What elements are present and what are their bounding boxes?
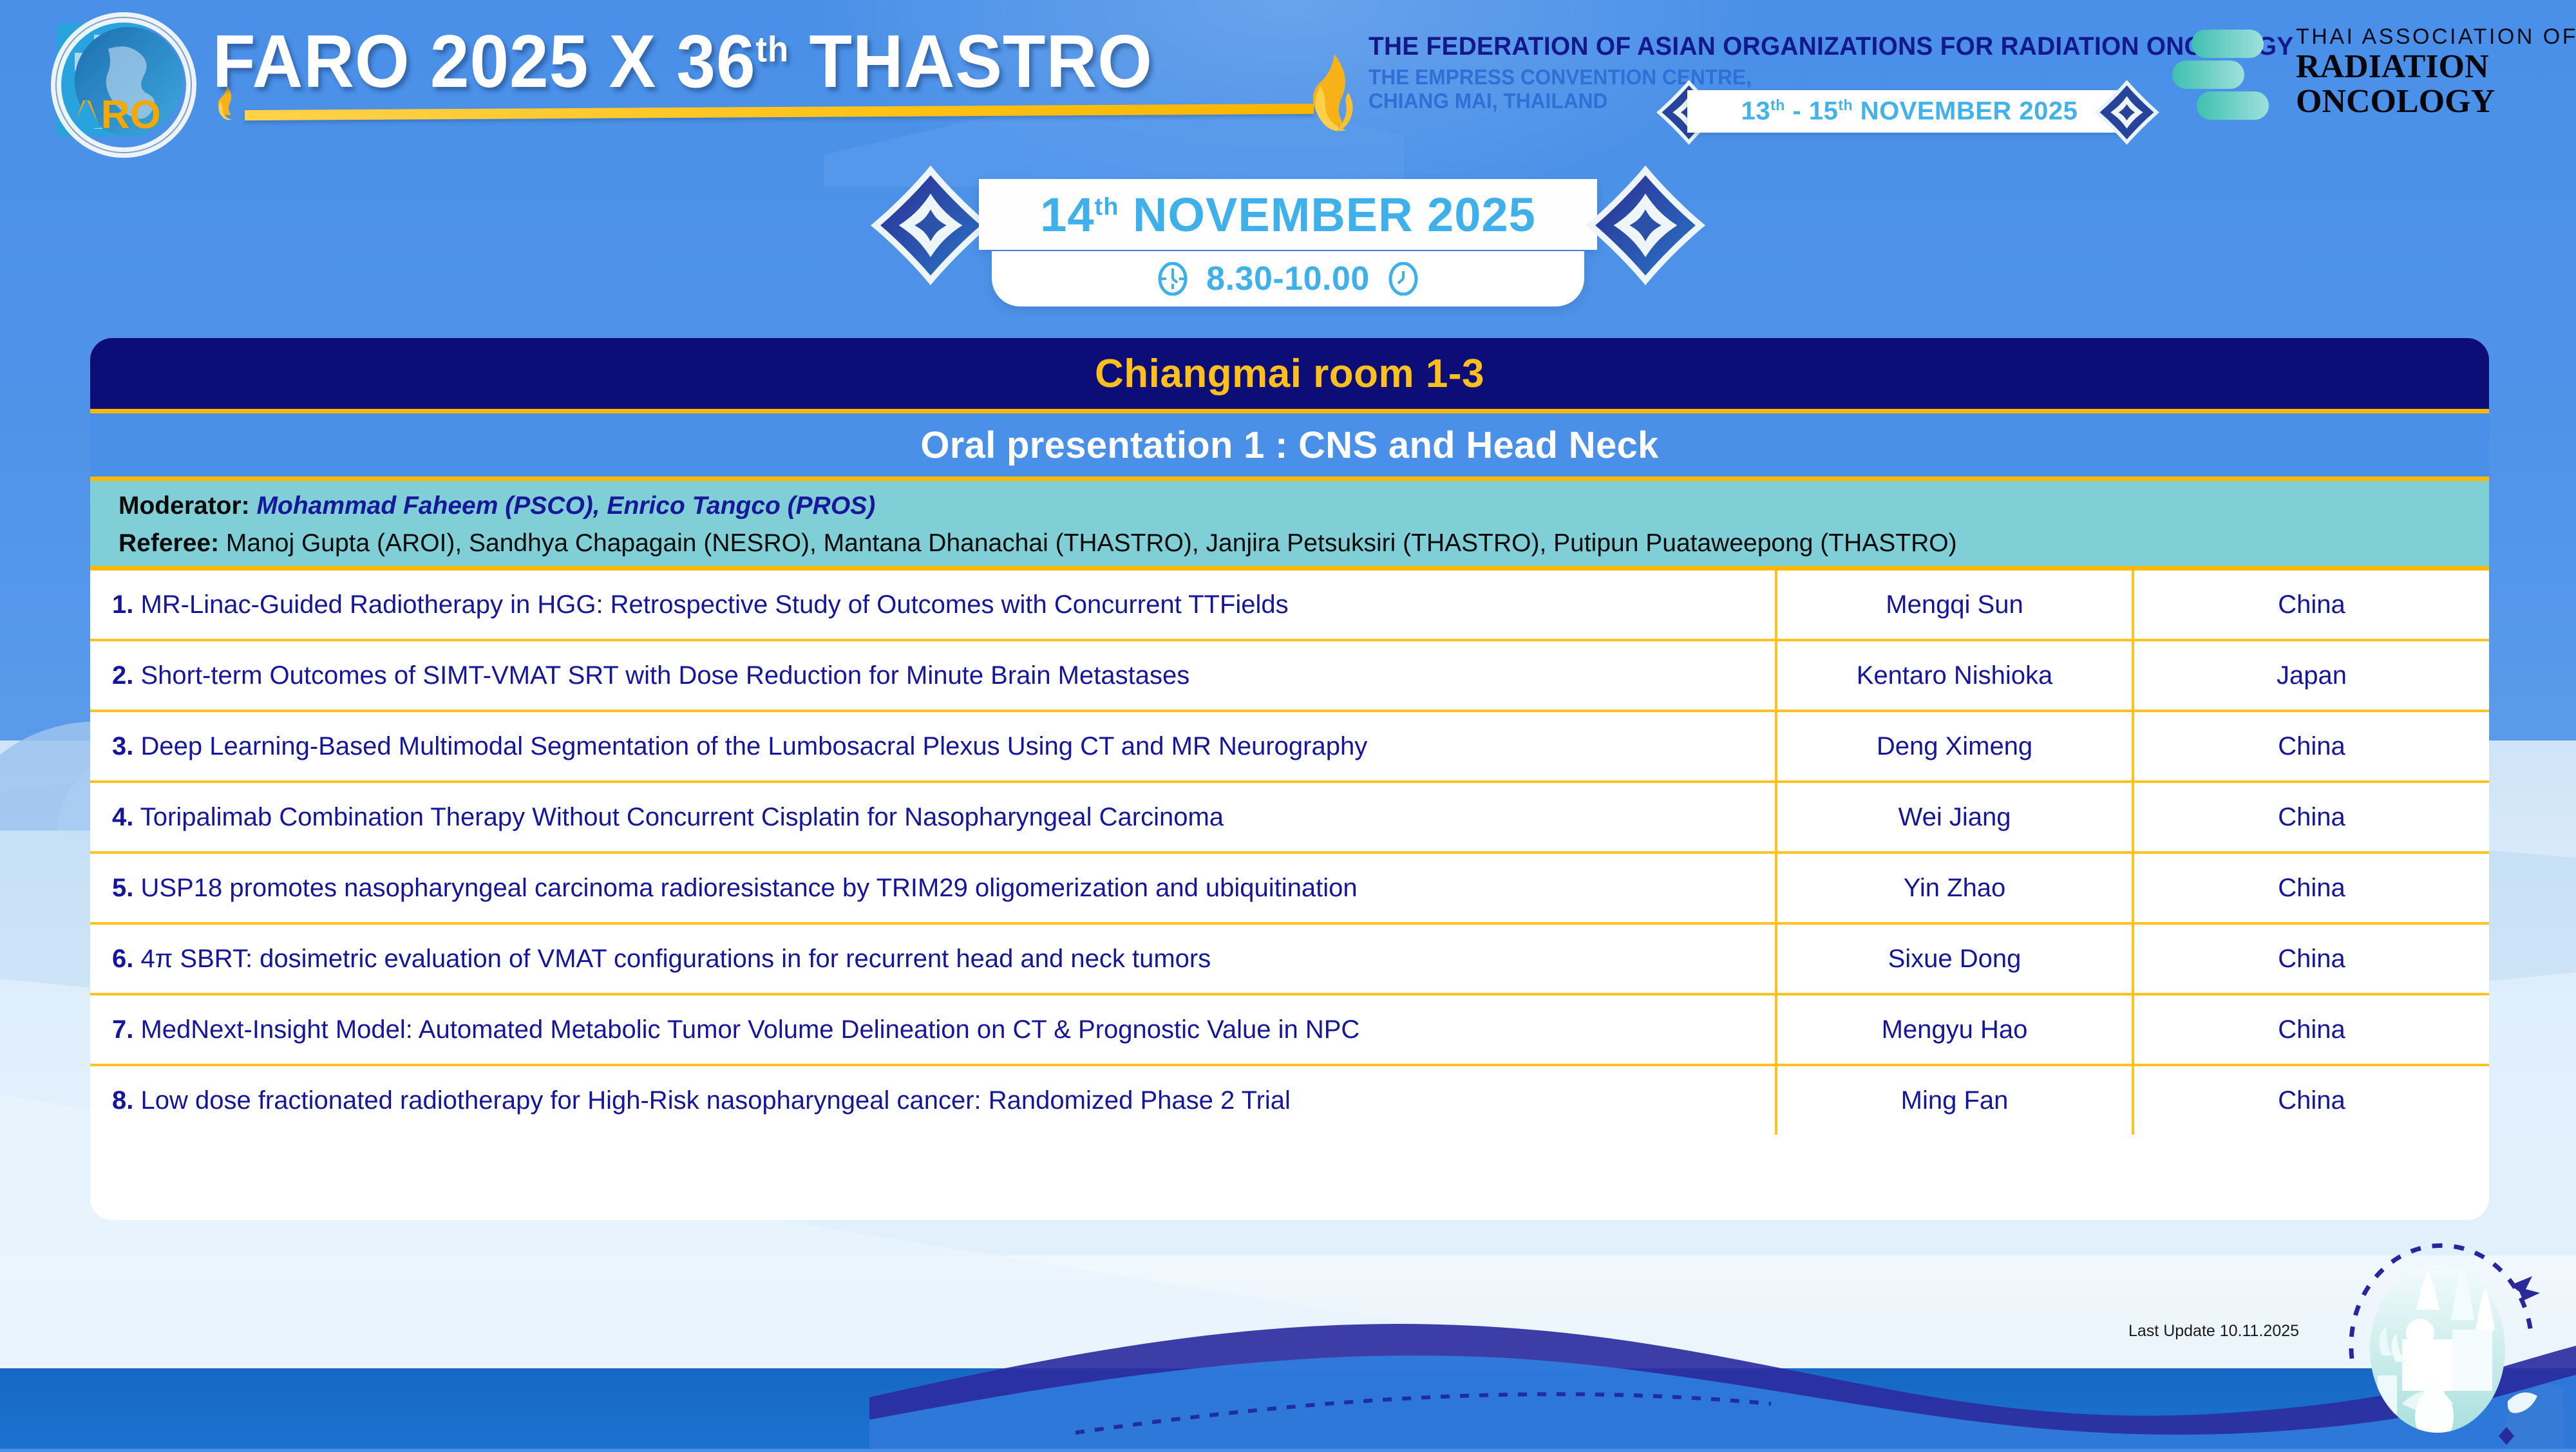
moderator-referee-block: Moderator: Mohammad Faheem (PSCO), Enric…	[90, 481, 2489, 566]
presentation-title: 3. Deep Learning-Based Multimodal Segmen…	[112, 732, 1367, 761]
room-divider	[90, 409, 2489, 413]
table-row: 2. Short-term Outcomes of SIMT-VMAT SRT …	[90, 641, 2489, 712]
dates-start: 13	[1741, 97, 1771, 126]
title-tail: THASTRO	[789, 19, 1153, 103]
presenter-cell: Mengyu Hao	[1777, 995, 2134, 1064]
presenter-cell: Yin Zhao	[1777, 854, 2134, 922]
country-cell: China	[2134, 570, 2489, 639]
dates-start-ordinal: th	[1770, 97, 1785, 113]
thastro-wordmark: THAI ASSOCIATION OF RADIATION ONCOLOGY	[2296, 24, 2576, 119]
presentation-number: 2.	[112, 661, 133, 690]
country-cell: China	[2134, 1066, 2489, 1135]
title-ordinal: th	[756, 28, 790, 69]
presentation-title: 7. MedNext-Insight Model: Automated Meta…	[112, 1015, 1359, 1044]
presenter-name: Sixue Dong	[1888, 945, 2022, 974]
table-row: 6. 4π SBRT: dosimetric evaluation of VMA…	[90, 925, 2489, 995]
presentation-number: 4.	[112, 803, 133, 831]
title-main: FARO 2025 X 36	[213, 19, 756, 103]
session-time-text: 8.30-10.00	[1206, 259, 1370, 298]
presenter-name: Mengqi Sun	[1886, 590, 2023, 619]
table-row: 3. Deep Learning-Based Multimodal Segmen…	[90, 712, 2489, 783]
presenter-name: Yin Zhao	[1904, 874, 2006, 903]
presentation-table: 1. MR-Linac-Guided Radiotherapy in HGG: …	[90, 570, 2489, 1220]
thastro-line-1: THAI ASSOCIATION OF	[2296, 24, 2576, 50]
presentation-title-cell: 7. MedNext-Insight Model: Automated Meta…	[90, 995, 1777, 1064]
moderator-divider	[90, 566, 2489, 570]
dates-month-year: NOVEMBER 2025	[1853, 97, 2078, 126]
presentation-title-cell: 4. Toripalimab Combination Therapy Witho…	[90, 783, 1777, 851]
country-name: Japan	[2277, 661, 2347, 690]
session-date-text: 14th NOVEMBER 2025	[1040, 187, 1536, 242]
presenter-cell: Ming Fan	[1777, 1066, 2134, 1135]
presenter-cell: Kentaro Nishioka	[1777, 641, 2134, 710]
country-cell: China	[2134, 854, 2489, 922]
country-name: China	[2278, 803, 2345, 832]
session-date-badge: 14th NOVEMBER 2025	[979, 179, 1597, 250]
country-name: China	[2278, 1015, 2345, 1044]
presenter-cell: Mengqi Sun	[1777, 570, 2134, 639]
presentation-title-text: Short-term Outcomes of SIMT-VMAT SRT wit…	[133, 661, 1189, 690]
presentation-title-text: Deep Learning-Based Multimodal Segmentat…	[133, 732, 1367, 760]
aro-logo-icon: ARO	[39, 9, 200, 160]
presentation-title: 5. USP18 promotes nasopharyngeal carcino…	[112, 874, 1358, 903]
presenter-cell: Wei Jiang	[1777, 783, 2134, 851]
country-name: China	[2278, 874, 2345, 903]
presentation-title-text: Toripalimab Combination Therapy Without …	[133, 803, 1224, 831]
presentation-title-text: MR-Linac-Guided Radiotherapy in HGG: Ret…	[133, 590, 1288, 619]
presenter-name: Kentaro Nishioka	[1857, 661, 2053, 690]
country-cell: China	[2134, 995, 2489, 1064]
presentation-title-cell: 2. Short-term Outcomes of SIMT-VMAT SRT …	[90, 641, 1777, 710]
presentation-number: 1.	[112, 590, 133, 619]
presentation-number: 6.	[112, 945, 133, 973]
session-date-ordinal: th	[1095, 193, 1119, 220]
moderator-names: Mohammad Faheem (PSCO), Enrico Tangco (P…	[250, 492, 876, 520]
table-row: 1. MR-Linac-Guided Radiotherapy in HGG: …	[90, 570, 2489, 641]
table-row: 4. Toripalimab Combination Therapy Witho…	[90, 783, 2489, 854]
diamond-ornament-right-small	[2093, 79, 2161, 146]
presentation-title-cell: 3. Deep Learning-Based Multimodal Segmen…	[90, 712, 1777, 780]
thastro-line-2: RADIATION	[2296, 50, 2576, 84]
country-name: China	[2278, 732, 2345, 761]
presenter-cell: Sixue Dong	[1777, 925, 2134, 993]
presentation-number: 5.	[112, 874, 133, 902]
presenter-cell: Deng Ximeng	[1777, 712, 2134, 780]
presentation-title-cell: 8. Low dose fractionated radiotherapy fo…	[90, 1066, 1777, 1135]
session-divider	[90, 476, 2489, 481]
referee-names: Manoj Gupta (AROI), Sandhya Chapagain (N…	[219, 529, 1957, 557]
event-dates-badge: 13th - 15th NOVEMBER 2025	[1687, 90, 2132, 133]
presentation-title-cell: 1. MR-Linac-Guided Radiotherapy in HGG: …	[90, 570, 1777, 639]
moderator-line: Moderator: Mohammad Faheem (PSCO), Enric…	[118, 487, 2489, 525]
venue-line-1: THE EMPRESS CONVENTION CENTRE,	[1368, 66, 2098, 90]
presentation-number: 3.	[112, 732, 133, 760]
session-title: Oral presentation 1 : CNS and Head Neck	[920, 424, 1658, 467]
dates-separator: - 15	[1785, 97, 1839, 126]
moderator-label: Moderator:	[118, 492, 250, 520]
presentation-title-cell: 6. 4π SBRT: dosimetric evaluation of VMA…	[90, 925, 1777, 993]
presenter-name: Deng Ximeng	[1877, 732, 2032, 761]
session-time-badge: 8.30-10.00	[992, 251, 1584, 306]
federation-name: THE FEDERATION OF ASIAN ORGANIZATIONS FO…	[1368, 32, 2106, 61]
presentation-title: 6. 4π SBRT: dosimetric evaluation of VMA…	[112, 945, 1211, 974]
presentation-title-text: Low dose fractionated radiotherapy for H…	[133, 1086, 1291, 1115]
dates-end-ordinal: th	[1838, 97, 1853, 113]
table-row: 8. Low dose fractionated radiotherapy fo…	[90, 1066, 2489, 1135]
presenter-name: Wei Jiang	[1899, 803, 2011, 832]
presentation-number: 8.	[112, 1086, 133, 1115]
last-update-text: Last Update 10.11.2025	[2128, 1322, 2299, 1341]
country-cell: Japan	[2134, 641, 2489, 710]
country-cell: China	[2134, 925, 2489, 993]
thastro-logo-icon	[2161, 23, 2270, 126]
room-name: Chiangmai room 1-3	[1095, 351, 1484, 397]
page-header: ARO FARO 2025 X 36th THASTRO THE FEDERAT…	[0, 0, 2576, 161]
country-name: China	[2278, 1086, 2345, 1115]
country-cell: China	[2134, 783, 2489, 851]
referee-label: Referee:	[118, 529, 219, 557]
schedule-card: Chiangmai room 1-3 Oral presentation 1 :…	[90, 338, 2489, 1220]
slide-root: ARO FARO 2025 X 36th THASTRO THE FEDERAT…	[0, 0, 2576, 1449]
table-row: 7. MedNext-Insight Model: Automated Meta…	[90, 995, 2489, 1066]
diamond-ornament-left-large	[869, 164, 992, 287]
thailand-landmark-illustration	[2306, 1243, 2563, 1449]
session-header: Oral presentation 1 : CNS and Head Neck	[90, 413, 2489, 476]
referee-line: Referee: Manoj Gupta (AROI), Sandhya Cha…	[118, 525, 2489, 562]
session-date-number: 14	[1040, 188, 1094, 241]
presentation-number: 7.	[112, 1015, 133, 1044]
country-name: China	[2278, 945, 2345, 974]
clock-icon-left	[1156, 262, 1189, 296]
thastro-line-3: ONCOLOGY	[2296, 84, 2576, 119]
presentation-title: 4. Toripalimab Combination Therapy Witho…	[112, 803, 1224, 832]
clock-icon-right	[1387, 262, 1420, 296]
session-date-month: NOVEMBER 2025	[1119, 188, 1535, 241]
presentation-title-cell: 5. USP18 promotes nasopharyngeal carcino…	[90, 854, 1777, 922]
country-name: China	[2278, 590, 2345, 619]
presentation-title-text: 4π SBRT: dosimetric evaluation of VMAT c…	[133, 945, 1211, 973]
event-dates-text: 13th - 15th NOVEMBER 2025	[1741, 97, 2078, 126]
page-title: FARO 2025 X 36th THASTRO	[213, 18, 1242, 108]
country-cell: China	[2134, 712, 2489, 780]
presentation-title: 8. Low dose fractionated radiotherapy fo…	[112, 1086, 1291, 1115]
presentation-title: 2. Short-term Outcomes of SIMT-VMAT SRT …	[112, 661, 1189, 690]
room-header: Chiangmai room 1-3	[90, 338, 2489, 409]
torch-flame-large-icon	[1294, 50, 1372, 147]
presenter-name: Ming Fan	[1901, 1086, 2009, 1115]
presentation-title-text: MedNext-Insight Model: Automated Metabol…	[133, 1015, 1359, 1044]
table-row: 5. USP18 promotes nasopharyngeal carcino…	[90, 854, 2489, 925]
presentation-title: 1. MR-Linac-Guided Radiotherapy in HGG: …	[112, 590, 1289, 619]
presentation-title-text: USP18 promotes nasopharyngeal carcinoma …	[133, 874, 1357, 902]
diamond-ornament-right-large	[1584, 164, 1707, 287]
presenter-name: Mengyu Hao	[1882, 1015, 2028, 1044]
